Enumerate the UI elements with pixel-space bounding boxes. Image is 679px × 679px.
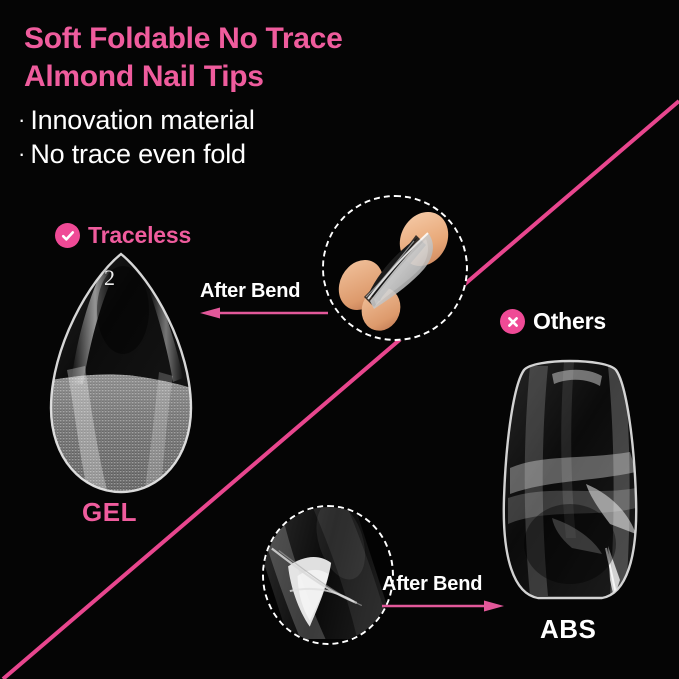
feature-text: Innovation material xyxy=(30,103,254,137)
badge-label: Others xyxy=(533,308,606,335)
feature-text: No trace even fold xyxy=(30,137,246,171)
arrow-left-icon xyxy=(200,307,328,319)
product-infographic: Soft Foldable No Trace Almond Nail Tips … xyxy=(0,0,679,679)
badge-label: Traceless xyxy=(88,222,191,249)
status-badge-traceless: Traceless xyxy=(55,222,191,249)
after-bend-label: After Bend xyxy=(200,281,328,301)
page-title: Soft Foldable No Trace Almond Nail Tips xyxy=(24,20,494,97)
inset-creased-abs-photo xyxy=(262,505,394,645)
caption-gel: GEL xyxy=(82,497,137,528)
headline-line-1: Soft Foldable No Trace xyxy=(24,20,494,58)
list-item: · Innovation material xyxy=(18,103,438,137)
bullet-dot-icon: · xyxy=(18,109,25,131)
after-bend-annotation-gel: After Bend xyxy=(200,281,328,319)
inset-folded-gel-photo xyxy=(322,195,468,341)
after-bend-label: After Bend xyxy=(382,574,504,594)
gel-nail-tip xyxy=(45,252,197,495)
check-circle-icon xyxy=(55,223,80,248)
abs-nail-tip xyxy=(490,348,650,606)
feature-list: · Innovation material · No trace even fo… xyxy=(18,103,438,172)
status-badge-others: Others xyxy=(500,308,606,335)
arrow-right-icon xyxy=(382,600,504,612)
cross-circle-icon xyxy=(500,309,525,334)
headline-line-2: Almond Nail Tips xyxy=(24,58,494,96)
caption-abs: ABS xyxy=(540,614,596,645)
nail-size-number: 2 xyxy=(104,265,115,291)
bullet-dot-icon: · xyxy=(18,143,25,165)
after-bend-annotation-abs: After Bend xyxy=(382,574,504,612)
list-item: · No trace even fold xyxy=(18,137,438,171)
